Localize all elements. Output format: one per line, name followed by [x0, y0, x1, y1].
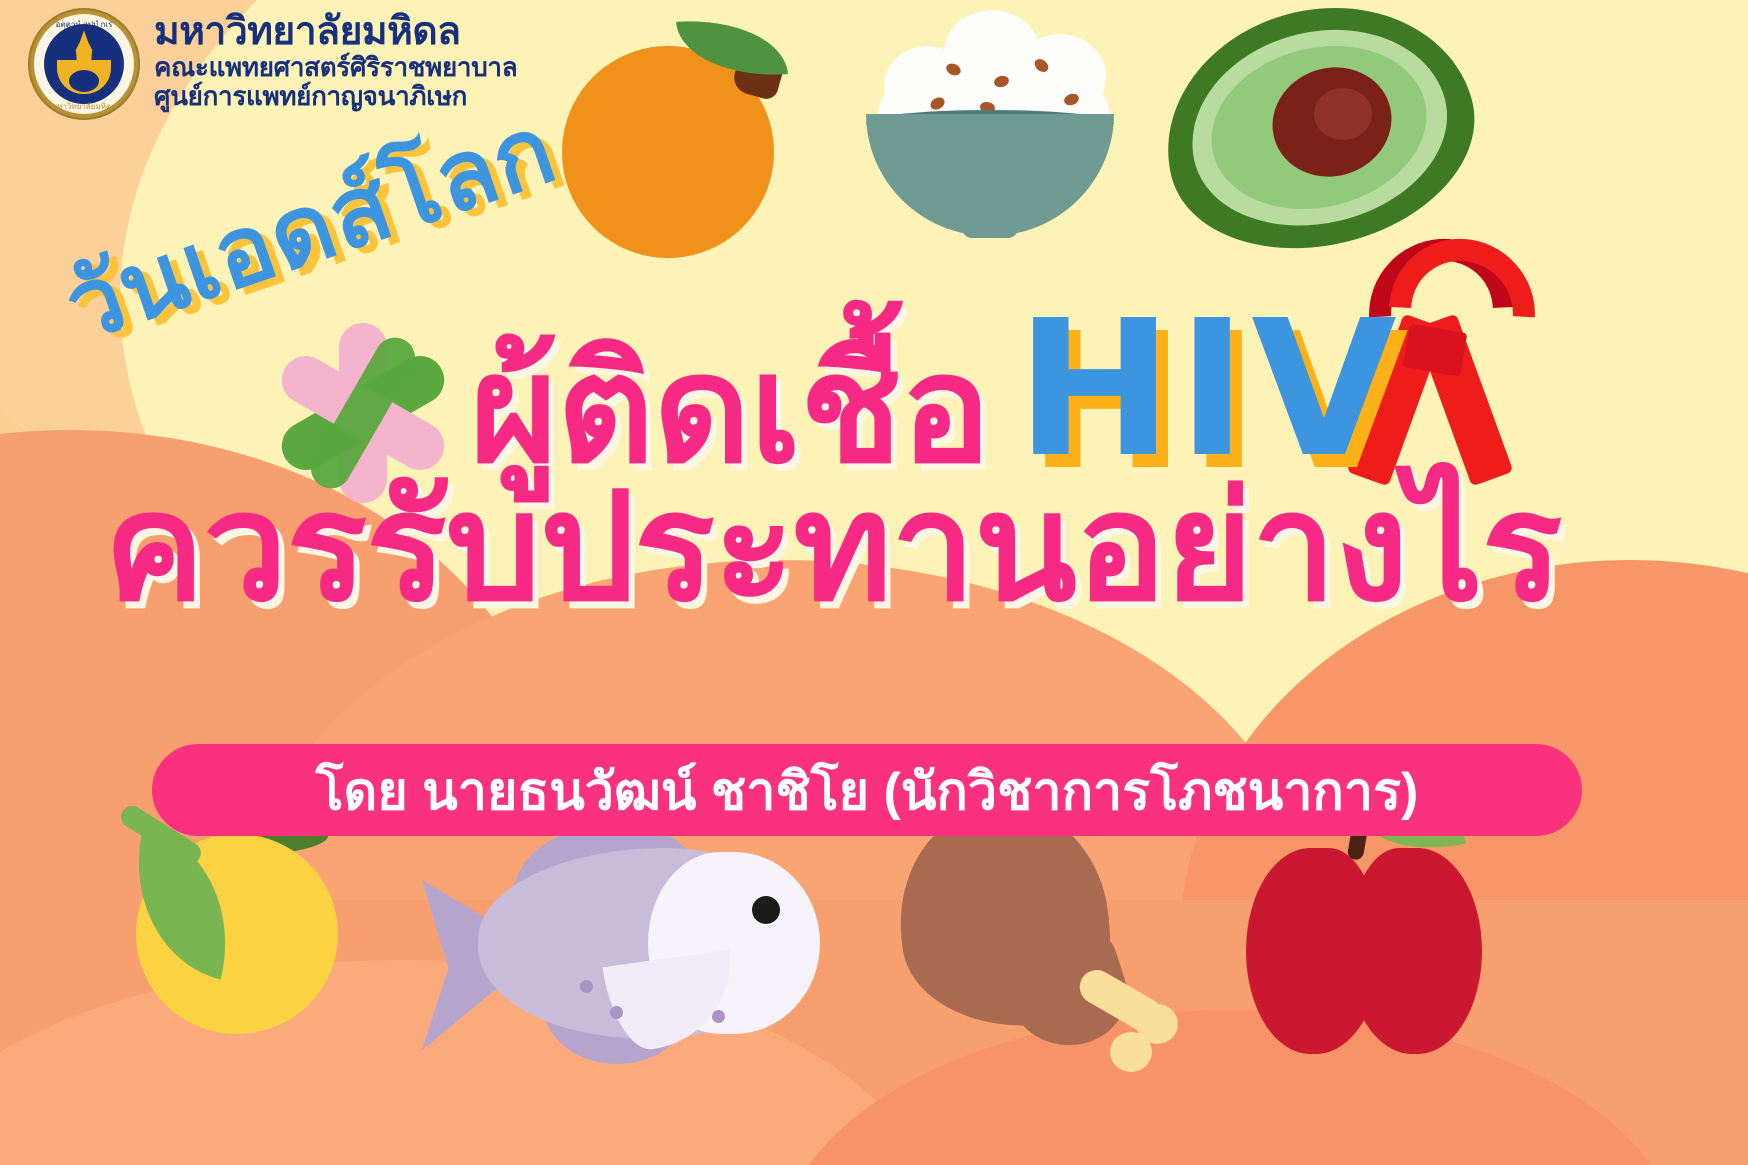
rice-bowl-illustration — [866, 10, 1114, 240]
avocado-pit-highlight — [1314, 88, 1372, 140]
speaker-credit-banner: โดย นายธนวัฒน์ ชาชิโย (นักวิชาการโภชนากา… — [152, 744, 1582, 836]
drumstick-bone-knob-2 — [1110, 1032, 1152, 1072]
university-name: มหาวิทยาลัยมหิดล — [154, 12, 517, 53]
seal-bottom-text: มหาวิทยาลัยมหิดล — [52, 100, 116, 113]
main-headline: ผู้ติดเชื้อ HIV ควรรับประทานอย่างไร — [0, 296, 1748, 628]
mahidol-seal-icon: อตฺตานํ อุปมํ กเร มหาวิทยาลัยมหิดล — [28, 8, 140, 120]
headline-line1-latin: HIV — [1016, 296, 1401, 484]
apple-body-right — [1348, 848, 1482, 1054]
center-name: ศูนย์การแพทย์กาญจนาภิเษก — [154, 82, 517, 112]
fish-eye — [752, 896, 780, 924]
institution-name-block: มหาวิทยาลัยมหิดล คณะแพทยศาสตร์ศิริราชพยา… — [154, 8, 517, 112]
poster-canvas: อตฺตานํ อุปมํ กเร มหาวิทยาลัยมหิดล มหาวิ… — [0, 0, 1748, 1165]
avocado-illustration — [1164, 10, 1474, 245]
bowl-foot — [962, 222, 1018, 238]
headline-line2-thai: ควรรับประทานอย่างไร — [104, 466, 1561, 628]
faculty-name: คณะแพทยศาสตร์ศิริราชพยาบาล — [154, 53, 517, 83]
seal-top-text: อตฺตานํ อุปมํ กเร — [56, 18, 113, 31]
fish-illustration — [422, 830, 842, 1090]
speaker-credit-text: โดย นายธนวัฒน์ ชาชิโย (นักวิชาการโภชนากา… — [316, 749, 1419, 832]
chicken-drumstick-illustration — [900, 808, 1200, 1078]
institution-logo-lockup: อตฺตานํ อุปมํ กเร มหาวิทยาลัยมหิดล มหาวิ… — [28, 8, 517, 120]
orange-fruit-illustration — [562, 18, 784, 258]
bowl-body — [866, 114, 1114, 236]
